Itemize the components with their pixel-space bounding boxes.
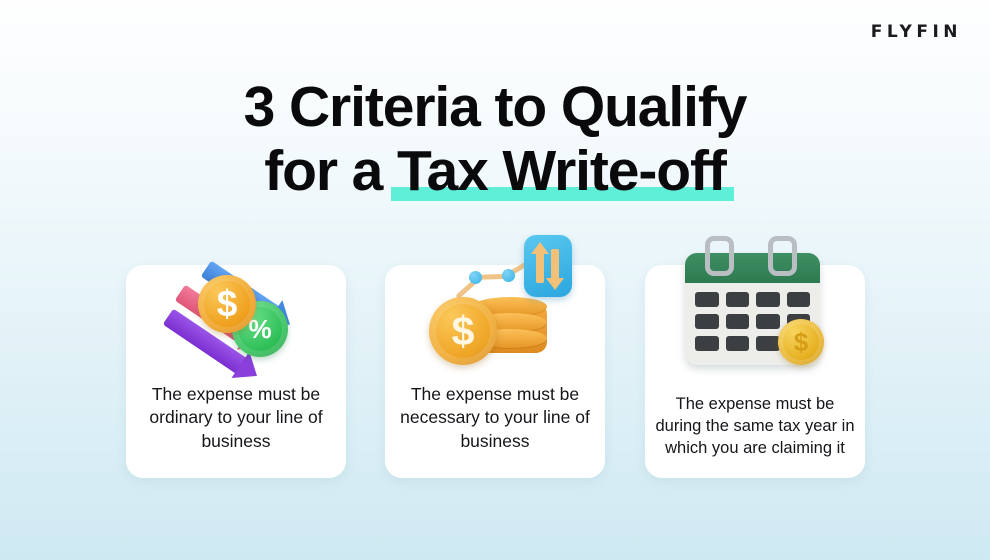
calendar-ring-icon [705, 236, 734, 276]
calendar-day-cell [726, 292, 750, 307]
calendar-day-cell [756, 314, 780, 329]
dollar-coin-icon: $ [778, 319, 824, 365]
calendar-day-cell [756, 336, 780, 351]
calendar-day-cell [695, 292, 719, 307]
headline-line-1: 3 Criteria to Qualify [0, 76, 990, 140]
calendar-day-cell [726, 314, 750, 329]
calendar-day-cell [726, 336, 750, 351]
criteria-card-1: % $ The expense must be ordinary to your… [126, 265, 346, 478]
headline-line-2: for a Tax Write-off [0, 140, 990, 204]
criteria-card-3: $ The expense must be during the same ta… [645, 265, 865, 478]
calendar-day-cell [787, 292, 811, 307]
calendar-day-cell [756, 292, 780, 307]
calendar-day-cell [695, 336, 719, 351]
calendar-coin-icon: $ [645, 247, 865, 382]
headline-highlight-wrap: Tax Write-off [397, 140, 726, 204]
headline-highlight-text: Tax Write-off [397, 139, 726, 203]
chart-point-icon [502, 269, 515, 282]
arrows-down-coins-icon: % $ [126, 247, 346, 382]
criteria-text-1: The expense must be ordinary to your lin… [136, 383, 336, 453]
dollar-coin-icon: $ [429, 297, 497, 365]
chart-point-icon [469, 271, 482, 284]
calendar-ring-icon [768, 236, 797, 276]
headline-prefix: for a [264, 139, 397, 203]
criteria-text-3: The expense must be during the same tax … [655, 394, 855, 460]
brand-logo: FLYFIN [871, 22, 962, 42]
dollar-coin-icon: $ [198, 275, 256, 333]
arrow-down-icon [551, 249, 559, 279]
up-down-arrows-badge-icon [524, 235, 572, 297]
page-title: 3 Criteria to Qualify for a Tax Write-of… [0, 76, 990, 204]
criteria-text-2: The expense must be necessary to your li… [395, 383, 595, 453]
criteria-card-list: % $ The expense must be ordinary to your… [0, 265, 990, 495]
calendar-day-cell [695, 314, 719, 329]
criteria-card-2: $ The expense must be necessary to your … [385, 265, 605, 478]
arrow-up-icon [536, 253, 544, 283]
coin-stack-chart-icon: $ [385, 247, 605, 382]
